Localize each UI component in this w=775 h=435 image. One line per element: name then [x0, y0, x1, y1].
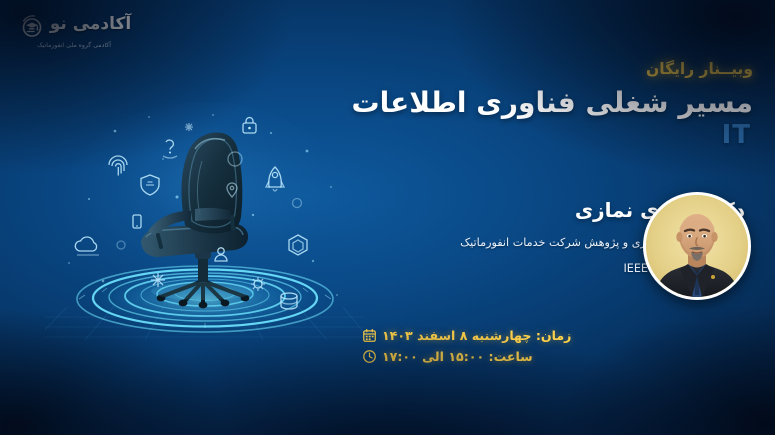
kicker-free-webinar: وبیــنار رایگان: [283, 60, 753, 79]
snowflake-icon: [151, 273, 165, 287]
logo-wordmark: آکادمی نو: [50, 16, 132, 33]
sparkle-icon: [185, 123, 193, 131]
title-subtext-it: IT: [283, 120, 751, 150]
schedule-block: زمان: چهارشنبه ۸ اسفند ۱۴۰۳ ساعت: ۱۵:۰۰ …: [363, 328, 743, 370]
avatar: [643, 192, 751, 300]
page-title: مسیر شغلی فناوری اطلاعات: [283, 86, 753, 119]
brand-logo[interactable]: آکادمی نو آکادمی گروه ملی انفورماتیک: [14, 8, 134, 60]
schedule-row-date: زمان: چهارشنبه ۸ اسفند ۱۴۰۳: [363, 328, 743, 343]
graduation-cap-logo-icon: [17, 9, 47, 39]
calendar-icon: [363, 329, 376, 342]
hero-text: وبیــنار رایگان مسیر شغلی فناوری اطلاعات…: [283, 60, 753, 150]
clock-icon: [363, 350, 376, 363]
logo-subtitle: آکادمی گروه ملی انفورماتیک: [37, 42, 111, 49]
schedule-row-time: ساعت: ۱۵:۰۰ الی ۱۷:۰۰: [363, 349, 743, 364]
webinar-banner: آکادمی نو آکادمی گروه ملی انفورماتیک وبی…: [0, 0, 775, 435]
schedule-time-text: ساعت: ۱۵:۰۰ الی ۱۷:۰۰: [382, 349, 533, 364]
schedule-date-text: زمان: چهارشنبه ۸ اسفند ۱۴۰۳: [382, 328, 571, 343]
logo-row: آکادمی نو: [17, 8, 132, 40]
